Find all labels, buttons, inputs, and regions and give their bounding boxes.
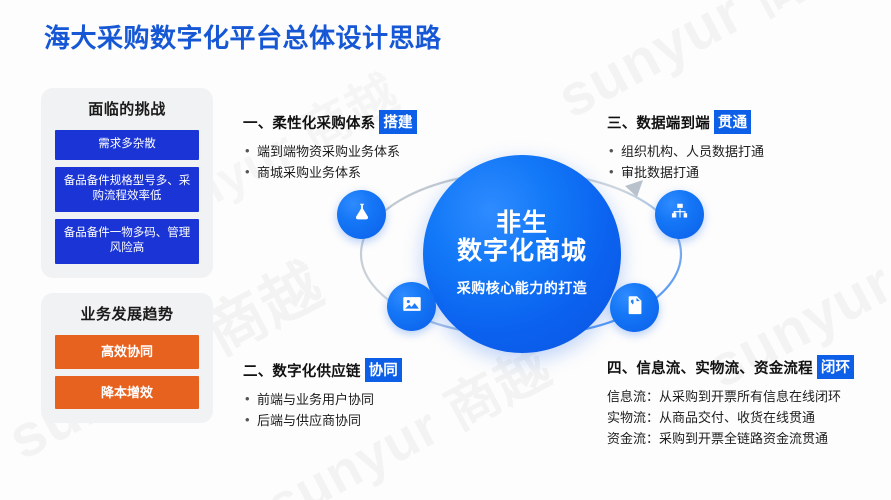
block-4-highlight: 闭环 bbox=[817, 355, 854, 379]
challenge-chip-1: 需求多杂散 bbox=[55, 130, 199, 160]
panel-business-trends-heading: 业务发展趋势 bbox=[55, 303, 199, 324]
block-3-heading: 三、数据端到端贯通 bbox=[607, 110, 867, 134]
block-2-highlight: 协同 bbox=[365, 358, 402, 382]
panel-business-trends: 业务发展趋势 高效协同 降本增效 bbox=[41, 293, 213, 423]
document-icon bbox=[624, 294, 646, 321]
list-item: 前端与业务用户协同 bbox=[243, 389, 493, 410]
block-3-heading-text: 三、数据端到端 bbox=[607, 116, 710, 132]
core-line-3: 采购核心能力的打造 bbox=[457, 278, 588, 298]
core-line-2: 数字化商城 bbox=[457, 237, 587, 267]
list-item: 信息流：从采购到开票所有信息在线闭环 bbox=[607, 386, 885, 407]
node-document[interactable] bbox=[610, 283, 659, 332]
slide-canvas: sunyur 商越 sunyur 商越 sunyur 商越 sunyur 商越 … bbox=[0, 0, 891, 500]
image-icon bbox=[401, 293, 423, 320]
trend-chip-1: 高效协同 bbox=[55, 335, 199, 369]
list-item: 实物流：从商品交付、收货在线贯通 bbox=[607, 407, 885, 428]
panel-challenges: 面临的挑战 需求多杂散 备品备件规格型号多、采购流程效率低 备品备件一物多码、管… bbox=[41, 88, 213, 278]
challenge-chip-2: 备品备件规格型号多、采购流程效率低 bbox=[55, 167, 199, 212]
node-image[interactable] bbox=[387, 282, 436, 331]
center-graphic: 非生 数字化商城 采购核心能力的打造 bbox=[325, 150, 715, 360]
block-2-heading: 二、数字化供应链协同 bbox=[243, 358, 493, 382]
flask-icon bbox=[351, 201, 373, 228]
block-three-flows: 四、信息流、实物流、资金流程闭环 信息流：从采购到开票所有信息在线闭环 实物流：… bbox=[607, 355, 885, 449]
list-item: 后端与供应商协同 bbox=[243, 410, 493, 431]
list-item: 资金流：采购到开票全链路资金流贯通 bbox=[607, 428, 885, 449]
node-hierarchy[interactable] bbox=[655, 190, 704, 239]
block-3-highlight: 贯通 bbox=[714, 110, 751, 134]
block-2-heading-text: 二、数字化供应链 bbox=[243, 364, 361, 380]
block-4-heading-text: 四、信息流、实物流、资金流程 bbox=[607, 361, 813, 377]
block-2-bullets: 前端与业务用户协同 后端与供应商协同 bbox=[243, 389, 493, 431]
block-1-heading: 一、柔性化采购体系搭建 bbox=[243, 110, 493, 134]
node-flask[interactable] bbox=[337, 190, 386, 239]
block-1-heading-text: 一、柔性化采购体系 bbox=[243, 116, 375, 132]
panel-challenges-heading: 面临的挑战 bbox=[55, 98, 199, 119]
block-digital-supply-chain: 二、数字化供应链协同 前端与业务用户协同 后端与供应商协同 bbox=[243, 358, 493, 431]
page-title: 海大采购数字化平台总体设计思路 bbox=[44, 18, 442, 55]
core-line-1: 非生 bbox=[496, 210, 548, 237]
trend-chip-2: 降本增效 bbox=[55, 376, 199, 410]
challenge-chip-3: 备品备件一物多码、管理风险高 bbox=[55, 219, 199, 264]
core-circle: 非生 数字化商城 采购核心能力的打造 bbox=[423, 155, 621, 353]
block-4-lines: 信息流：从采购到开票所有信息在线闭环 实物流：从商品交付、收货在线贯通 资金流：… bbox=[607, 386, 885, 449]
block-1-highlight: 搭建 bbox=[379, 110, 416, 134]
hierarchy-icon bbox=[669, 201, 691, 228]
